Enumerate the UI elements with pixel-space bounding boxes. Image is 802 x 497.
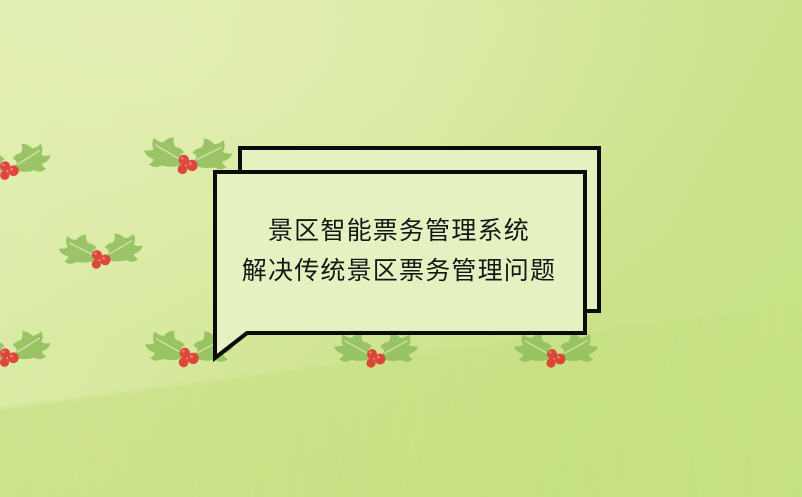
screenshot-canvas: 景区智能票务管理系统 解决传统景区票务管理问题 [0, 0, 802, 497]
holly-sprig-icon [143, 328, 234, 376]
holly-sprig-icon [0, 140, 53, 190]
holly-sprig-icon [333, 331, 419, 375]
headline-line-1: 景区智能票务管理系统 [268, 218, 530, 246]
holly-sprig-icon [0, 328, 53, 376]
holly-sprig-icon [513, 331, 599, 375]
headline-line-2: 解决传统景区票务管理问题 [242, 258, 556, 286]
holly-sprig-icon [57, 231, 144, 278]
speech-bubble-text: 景区智能票务管理系统 解决传统景区票务管理问题 [213, 170, 585, 333]
